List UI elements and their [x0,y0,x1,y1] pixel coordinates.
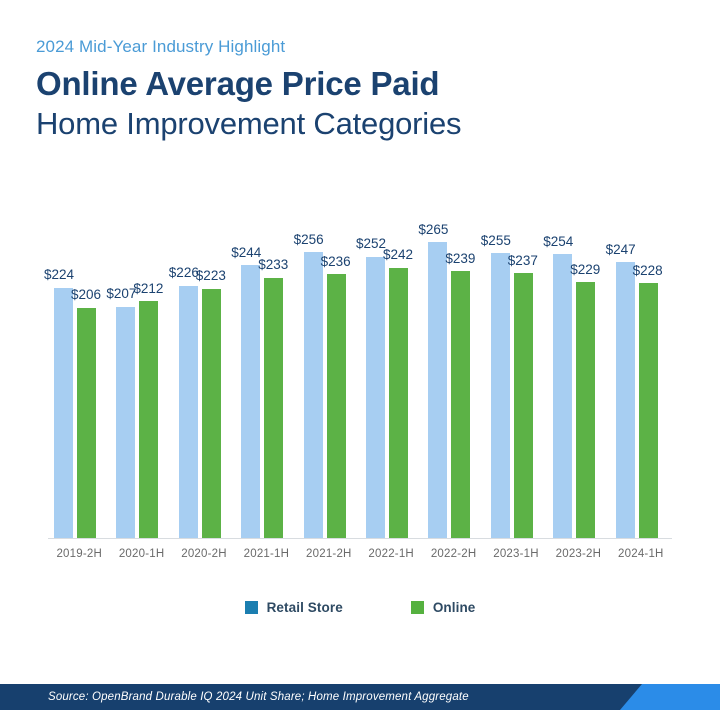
bar-online[interactable] [451,271,470,538]
footer: Source: OpenBrand Durable IQ 2024 Unit S… [0,674,720,720]
header: 2024 Mid-Year Industry Highlight Online … [36,36,676,144]
bar-group: $255$237 [485,200,547,538]
bar-group: $244$233 [235,200,297,538]
bar-retail-store[interactable] [428,242,447,538]
bar-retail-store[interactable] [241,265,260,538]
bar-group: $226$223 [173,200,235,538]
bar-value-label-online: $229 [570,263,600,277]
bar-online[interactable] [202,289,221,538]
x-axis-tick-label: 2023-1H [483,548,549,560]
bar-online[interactable] [639,283,658,538]
bar-value-label-online: $236 [321,255,351,269]
bar-retail-store[interactable] [366,257,385,538]
x-axis-tick-label: 2022-2H [421,548,487,560]
bar-group: $224$206 [48,200,110,538]
chart-plot-area: $224$2062019-2H$207$2122020-1H$226$22320… [48,200,672,538]
bar-online[interactable] [77,308,96,538]
x-axis-tick-label: 2019-2H [46,548,112,560]
bar-online[interactable] [264,278,283,538]
bar-value-label-retail-store: $255 [481,234,511,248]
bar-online[interactable] [327,274,346,538]
page-subtitle: Home Improvement Categories [36,104,676,144]
legend-label: Retail Store [267,600,343,615]
legend-item[interactable]: Retail Store [245,600,343,615]
bar-value-label-online: $233 [258,258,288,272]
x-axis-tick-label: 2024-1H [608,548,674,560]
bar-value-label-online: $242 [383,248,413,262]
bar-online[interactable] [514,273,533,538]
bar-value-label-online: $237 [508,254,538,268]
bar-chart: $224$2062019-2H$207$2122020-1H$226$22320… [0,200,720,600]
bar-value-label-retail-store: $254 [543,235,573,249]
bar-online[interactable] [576,282,595,538]
bar-value-label-retail-store: $226 [169,266,199,280]
x-axis-tick-label: 2020-1H [109,548,175,560]
bar-value-label-online: $223 [196,269,226,283]
header-kicker: 2024 Mid-Year Industry Highlight [36,36,676,58]
bar-value-label-retail-store: $207 [106,287,136,301]
chart-legend: Retail StoreOnline [0,600,720,615]
legend-swatch-icon [411,601,424,614]
bar-group: $256$236 [298,200,360,538]
bar-value-label-retail-store: $247 [606,243,636,257]
bar-value-label-retail-store: $265 [418,223,448,237]
bar-retail-store[interactable] [179,286,198,538]
bar-group: $254$229 [547,200,609,538]
legend-swatch-icon [245,601,258,614]
page-title: Online Average Price Paid [36,63,676,105]
bar-group: $247$228 [610,200,672,538]
bar-value-label-retail-store: $244 [231,246,261,260]
x-axis-tick-label: 2021-2H [296,548,362,560]
legend-item[interactable]: Online [411,600,476,615]
bar-value-label-retail-store: $256 [294,233,324,247]
x-axis-tick-label: 2022-1H [358,548,424,560]
x-axis-tick-label: 2021-1H [233,548,299,560]
bar-online[interactable] [139,301,158,538]
bar-value-label-online: $206 [71,288,101,302]
bar-online[interactable] [389,268,408,538]
bar-group: $207$212 [110,200,172,538]
bar-value-label-retail-store: $224 [44,268,74,282]
bar-retail-store[interactable] [54,288,73,538]
bar-retail-store[interactable] [616,262,635,538]
x-axis-tick-label: 2020-2H [171,548,237,560]
bar-value-label-retail-store: $252 [356,237,386,251]
bar-group: $252$242 [360,200,422,538]
bar-retail-store[interactable] [116,307,135,538]
chart-axis-line [48,538,672,539]
bar-value-label-online: $212 [133,282,163,296]
bar-value-label-online: $228 [633,264,663,278]
bar-retail-store[interactable] [491,253,510,538]
bar-retail-store[interactable] [304,252,323,538]
source-note: Source: OpenBrand Durable IQ 2024 Unit S… [48,684,469,710]
bar-value-label-online: $239 [445,252,475,266]
bar-retail-store[interactable] [553,254,572,538]
legend-label: Online [433,600,476,615]
x-axis-tick-label: 2023-2H [545,548,611,560]
bar-group: $265$239 [422,200,484,538]
